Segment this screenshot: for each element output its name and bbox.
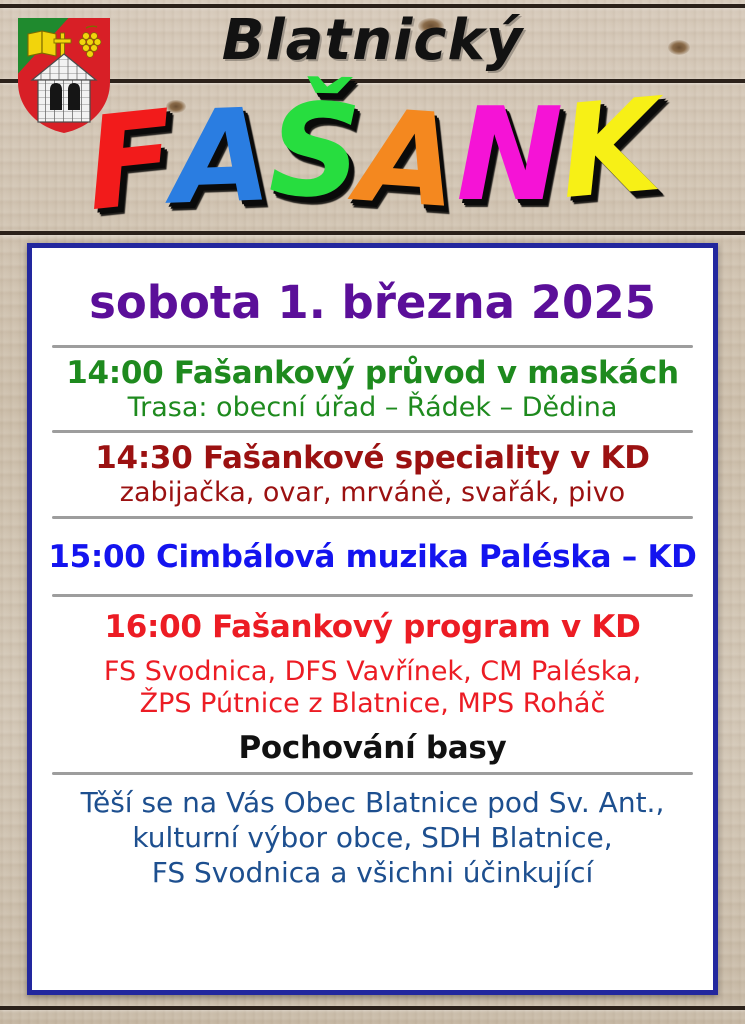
page-title-fasank: FAŠANK [0, 92, 745, 220]
program-detail-line-1: FS Svodnica, DFS Vavřínek, CM Paléska, [46, 656, 699, 688]
fasank-letter-1: A [170, 92, 271, 223]
program-item-1430: 14:30 Fašankové speciality v KD zabijačk… [46, 433, 699, 515]
page-title-blatnicky: Blatnický [0, 8, 745, 73]
program-title: 14:30 Fašankové speciality v KD [46, 440, 699, 477]
program-title: 16:00 Fašankový program v KD [46, 609, 699, 646]
fasank-letter-3: A [355, 93, 461, 227]
program-detail: zabijačka, ovar, mrváně, svařák, pivo [46, 477, 699, 509]
footer-line-1: Těší se na Vás Obec Blatnice pod Sv. Ant… [46, 785, 699, 820]
footer-line-3: FS Svodnica a všichni účinkující [46, 855, 699, 890]
program-item-1600: 16:00 Fašankový program v KD FS Svodnica… [46, 597, 699, 772]
footer-line-2: kulturní výbor obce, SDH Blatnice, [46, 820, 699, 855]
program-item-1400: 14:00 Fašankový průvod v maskách Trasa: … [46, 348, 699, 430]
date-heading: sobota 1. března 2025 [46, 276, 699, 329]
fasank-letter-5: K [555, 82, 663, 218]
program-highlight-pochovani-basy: Pochování basy [46, 730, 699, 767]
program-detail: Trasa: obecní úřad – Řádek – Dědina [46, 392, 699, 424]
fasank-letter-0: F [81, 94, 179, 230]
footer-credits: Těší se na Vás Obec Blatnice pod Sv. Ant… [46, 775, 699, 890]
program-panel: sobota 1. března 2025 14:00 Fašankový pr… [27, 243, 718, 995]
fasank-letter-2: Š [268, 87, 360, 217]
program-title: 14:00 Fašankový průvod v maskách [46, 355, 699, 392]
poster-root: Blatnický FAŠANK sobota 1. března 2025 1… [0, 0, 745, 1024]
program-item-1500: 15:00 Cimbálová muzika Paléska – KD [46, 519, 699, 595]
fasank-letter-4: N [456, 92, 561, 220]
plank-seam-4 [0, 1006, 745, 1010]
program-title: 15:00 Cimbálová muzika Paléska – KD [46, 539, 699, 576]
program-detail-line-2: ŽPS Pútnice z Blatnice, MPS Roháč [46, 688, 699, 720]
